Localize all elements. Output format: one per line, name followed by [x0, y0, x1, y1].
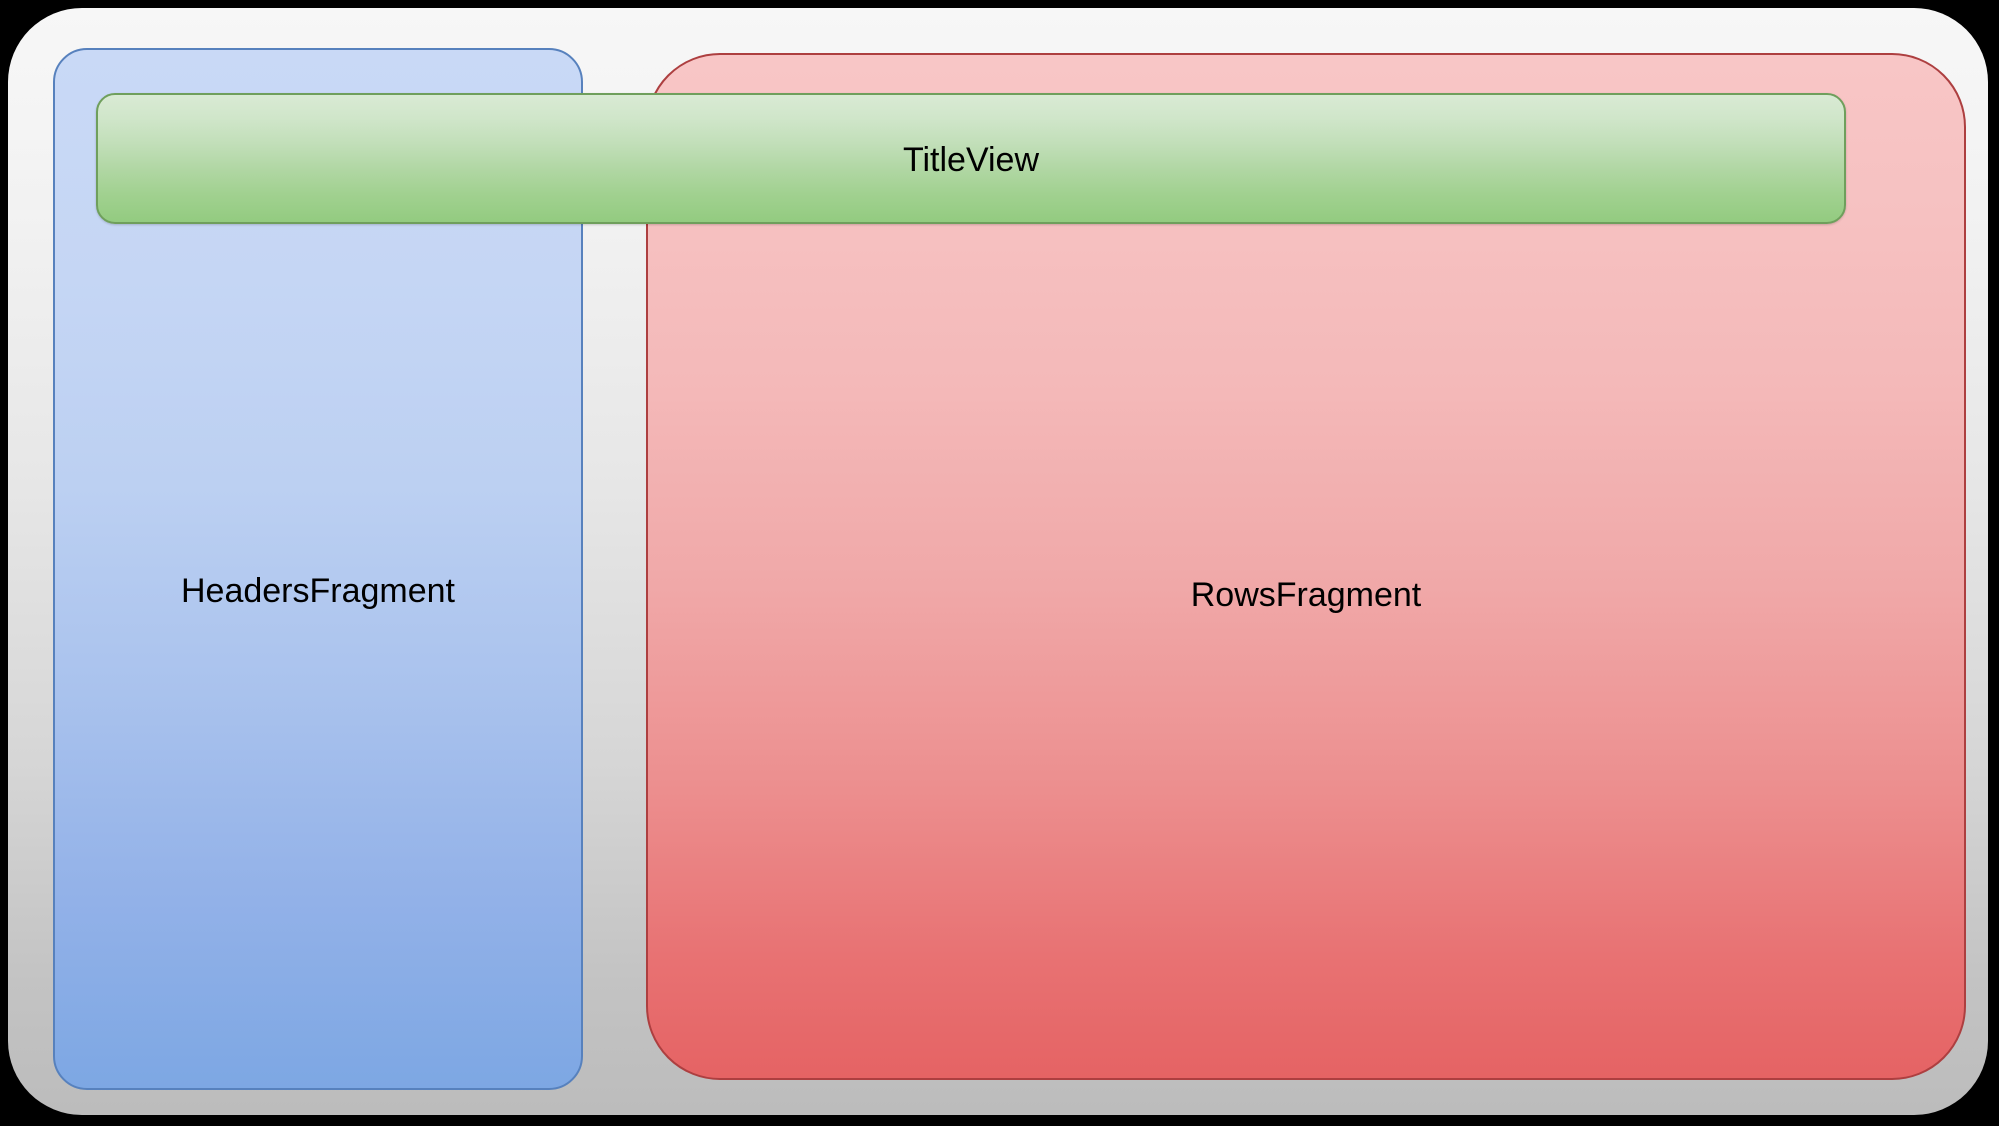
outer-container: HeadersFragment RowsFragment TitleView — [8, 8, 1988, 1115]
diagram-canvas: HeadersFragment RowsFragment TitleView — [0, 0, 1999, 1126]
headers-fragment-label: HeadersFragment — [55, 571, 581, 611]
title-view-panel[interactable]: TitleView — [96, 93, 1846, 224]
rows-fragment-label: RowsFragment — [648, 575, 1964, 615]
title-view-label: TitleView — [98, 140, 1844, 180]
